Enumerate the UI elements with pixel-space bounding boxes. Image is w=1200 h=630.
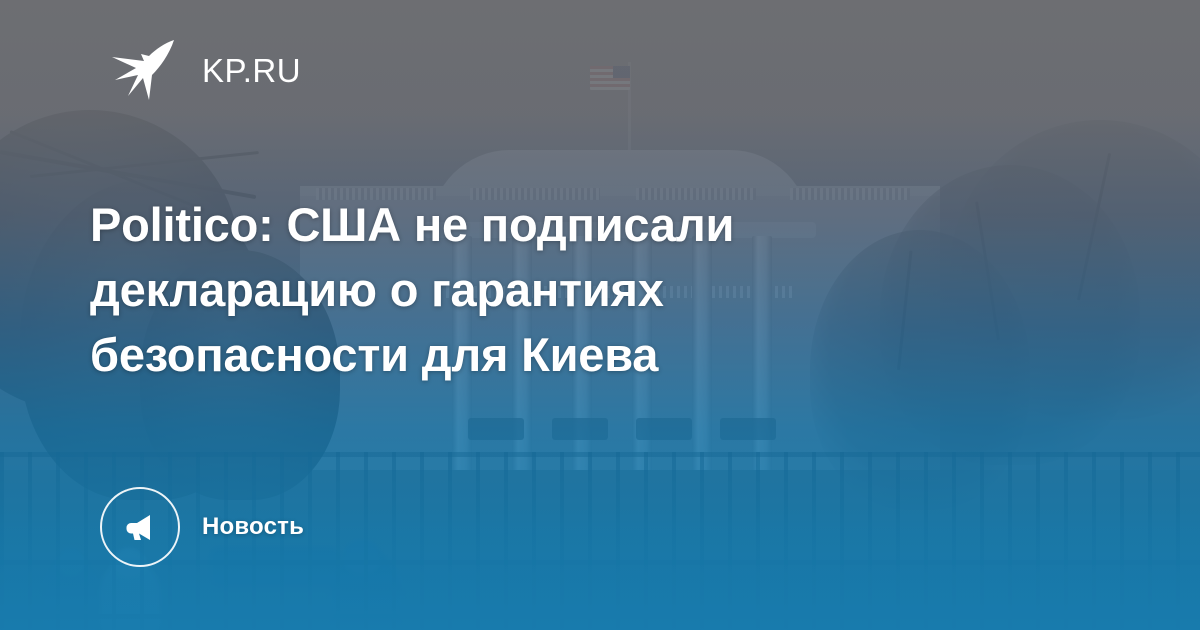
- status-badge-label: Новость: [202, 513, 304, 541]
- swallow-bird-icon: [108, 34, 180, 106]
- page-title: Politico: США не подписали декларацию о …: [90, 192, 930, 387]
- brand-name: KP.RU: [202, 54, 301, 87]
- brand-lockup[interactable]: KP.RU: [108, 34, 301, 106]
- status-badge: Новость: [100, 487, 304, 567]
- megaphone-icon: [100, 487, 180, 567]
- news-share-card: KP.RU Politico: США не подписали деклара…: [0, 0, 1200, 630]
